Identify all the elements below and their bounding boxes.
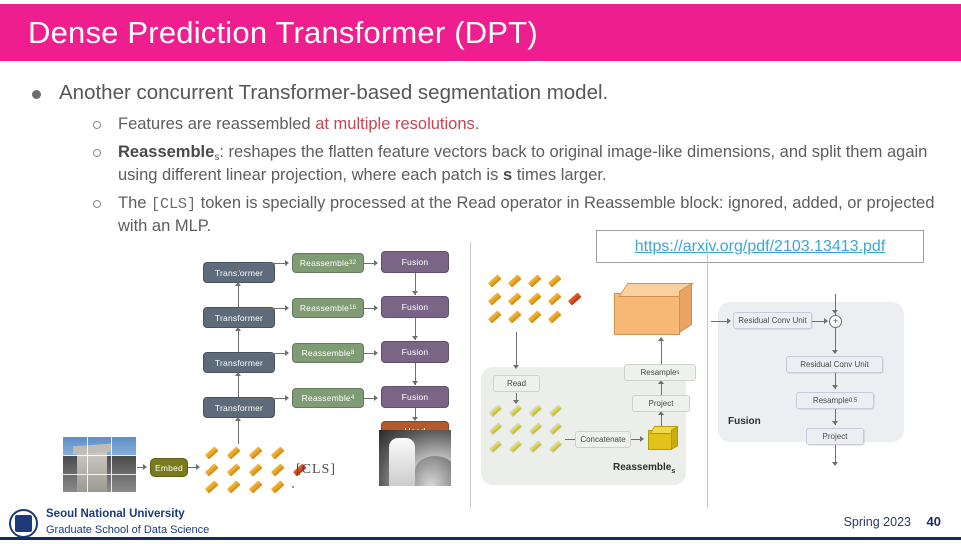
token-slab <box>205 446 218 459</box>
panel-divider-1 <box>470 242 471 508</box>
arrowhead-right-icon <box>374 305 378 311</box>
arrowhead-up-icon <box>235 327 241 331</box>
patch-gridline <box>63 474 136 475</box>
bullet-main-text: Another concurrent Transformer-based seg… <box>59 80 608 106</box>
fusion-panel-label: Fusion <box>728 416 761 427</box>
arrowhead-right-icon <box>285 350 289 356</box>
token-slab <box>227 480 240 493</box>
slide-body: Another concurrent Transformer-based seg… <box>0 66 961 238</box>
token-slab <box>271 446 284 459</box>
bullet-main: Another concurrent Transformer-based seg… <box>0 80 961 106</box>
read-block: Read <box>493 375 540 392</box>
fusion-block-4: Fusion <box>381 386 449 408</box>
term-reassemble: Reassemble <box>118 143 214 161</box>
flow-arrow-up <box>238 283 239 307</box>
arrowhead-right-icon <box>143 464 147 470</box>
embed-block: Embed <box>150 458 188 477</box>
panel-divider-2 <box>707 242 708 508</box>
bullet-dot-icon <box>32 90 41 99</box>
arrowhead-right-icon <box>196 464 200 470</box>
subscript-s: s <box>214 152 219 163</box>
token-slab <box>508 292 521 305</box>
transformer-block-2: Transformer <box>203 307 275 328</box>
arrowhead-down-icon <box>832 385 838 389</box>
arrowhead-down-icon <box>832 462 838 466</box>
cube-front-face <box>614 293 680 335</box>
flow-arrow-up <box>238 373 239 397</box>
term-s: s <box>503 166 512 184</box>
building-shape <box>77 447 107 492</box>
school-name: Graduate School of Data Science <box>46 523 209 538</box>
token-slab <box>249 463 262 476</box>
arrowhead-right-icon <box>374 260 378 266</box>
token-slab <box>271 480 284 493</box>
arrowhead-down-icon <box>832 421 838 425</box>
token-slab <box>227 446 240 459</box>
arrowhead-right-icon <box>374 395 378 401</box>
transformer-block-3: Transformer <box>203 352 275 373</box>
resample-to-output-arrow <box>661 338 662 364</box>
reassemble-block-32 <box>292 486 294 488</box>
reassemble-panel-label: Reassembles <box>613 462 675 475</box>
token-slab <box>249 446 262 459</box>
sum-operator: + <box>829 315 842 328</box>
patch-gridline <box>111 437 112 492</box>
arrowhead-right-icon <box>285 305 289 311</box>
depth-background <box>415 456 451 486</box>
reassemble-block-8: Reassemble8 <box>292 343 364 363</box>
cls-token-label: [CLS] <box>296 462 336 478</box>
arrowhead-down-icon <box>412 381 418 385</box>
university-name: Seoul National University <box>46 507 209 523</box>
flow-arrow-up <box>238 328 239 352</box>
arrowhead-down-icon <box>513 365 519 369</box>
arrowhead-right-icon <box>824 318 828 324</box>
sub-bullet-list: Features are reassembled at multiple res… <box>0 113 961 238</box>
semester-label: Spring 2023 <box>844 515 911 529</box>
token-slab <box>548 310 561 323</box>
token-slab <box>205 480 218 493</box>
arrowhead-right-icon <box>640 436 644 442</box>
highlight-red: at multiple resolutions. <box>315 115 479 133</box>
depth-foreground <box>389 438 415 486</box>
resample-block: Resamples <box>624 364 696 381</box>
residual-conv-unit-1: Residual Conv Unit <box>733 312 812 329</box>
transformer-block-4: Transformer <box>203 397 275 418</box>
token-slab <box>271 463 284 476</box>
sub-bullet-2: Reassembles: reshapes the flatten featur… <box>93 141 961 187</box>
university-names: Seoul National University Graduate Schoo… <box>46 507 209 537</box>
patch-gridline <box>63 455 136 456</box>
token-slab <box>508 274 521 287</box>
token-slab <box>548 292 561 305</box>
resample-block: Resample0.5 <box>796 392 874 409</box>
token-slab <box>528 310 541 323</box>
token-slab <box>249 480 262 493</box>
page-title: Dense Prediction Transformer (DPT) <box>0 15 538 51</box>
arrowhead-down-icon <box>412 417 418 421</box>
sub-bullet-1: Features are reassembled at multiple res… <box>93 113 961 136</box>
dpt-architecture-figure: Transformer Transformer Transformer Tran… <box>0 236 961 511</box>
cube-side-face <box>679 283 692 333</box>
arrowhead-right-icon <box>727 318 731 324</box>
fusion-block-3: Fusion <box>381 341 449 363</box>
reassemble-block-32: Reassemble32 <box>292 253 364 273</box>
skip-riser <box>238 263 239 275</box>
token-slab <box>528 274 541 287</box>
arrowhead-up-icon <box>235 417 241 421</box>
output-feature-cube <box>614 283 692 338</box>
sub-bullet-2-text: Reassembles: reshapes the flatten featur… <box>118 141 958 187</box>
slide-title-bar: Dense Prediction Transformer (DPT) <box>0 4 961 61</box>
arrowhead-down-icon <box>412 336 418 340</box>
sub-bullet-ring-icon <box>93 149 101 157</box>
token-slab <box>488 310 501 323</box>
arrowhead-right-icon <box>285 395 289 401</box>
reassemble-block-16: Reassemble16 <box>292 298 364 318</box>
project-block: Project <box>632 395 690 412</box>
fusion-block-2: Fusion <box>381 296 449 318</box>
token-slab <box>528 292 541 305</box>
input-image-patches <box>63 437 136 492</box>
token-slab <box>488 274 501 287</box>
patch-gridline <box>87 437 88 492</box>
arrowhead-right-icon <box>285 260 289 266</box>
arrowhead-up-icon <box>235 282 241 286</box>
concat-feature-cube <box>648 426 678 452</box>
sub-bullet-ring-icon <box>93 121 101 129</box>
depth-map-output <box>379 430 451 486</box>
token-cls-code: [CLS] <box>151 196 196 213</box>
residual-conv-unit-2: Residual Conv Unit <box>786 356 883 373</box>
token-slab <box>205 463 218 476</box>
fusion-input-arrow <box>711 321 728 322</box>
skip-arrow-32 <box>238 263 286 264</box>
reassemble-block-4: Reassemble4 <box>292 388 364 408</box>
fusion-block-1: Fusion <box>381 251 449 273</box>
arrowhead-down-icon <box>412 291 418 295</box>
token-slab-cls <box>568 292 581 305</box>
skip-arrow-4 <box>238 398 286 399</box>
arrowhead-up-icon <box>235 372 241 376</box>
token-slab <box>548 274 561 287</box>
arrowhead-right-icon <box>374 350 378 356</box>
project-block: Project <box>806 428 864 445</box>
slide-page-number: 40 <box>927 514 941 529</box>
flow-arrow-embed-up <box>238 418 239 444</box>
concatenate-block: Concatenate <box>575 431 631 448</box>
cube-side-face <box>671 426 678 450</box>
skip-arrow-8 <box>238 353 286 354</box>
tokens-to-read-arrow <box>516 332 517 368</box>
arrowhead-down-icon <box>832 310 838 314</box>
logo-inner-mark <box>15 515 32 532</box>
sub-bullet-1-text: Features are reassembled at multiple res… <box>118 113 479 136</box>
token-slab <box>488 292 501 305</box>
university-logo-icon <box>9 509 38 538</box>
token-slab <box>227 463 240 476</box>
footer-rule <box>0 537 961 540</box>
arrowhead-down-icon <box>832 350 838 354</box>
token-slab <box>508 310 521 323</box>
skip-arrow-16 <box>238 308 286 309</box>
sub-bullet-ring-icon <box>93 200 101 208</box>
